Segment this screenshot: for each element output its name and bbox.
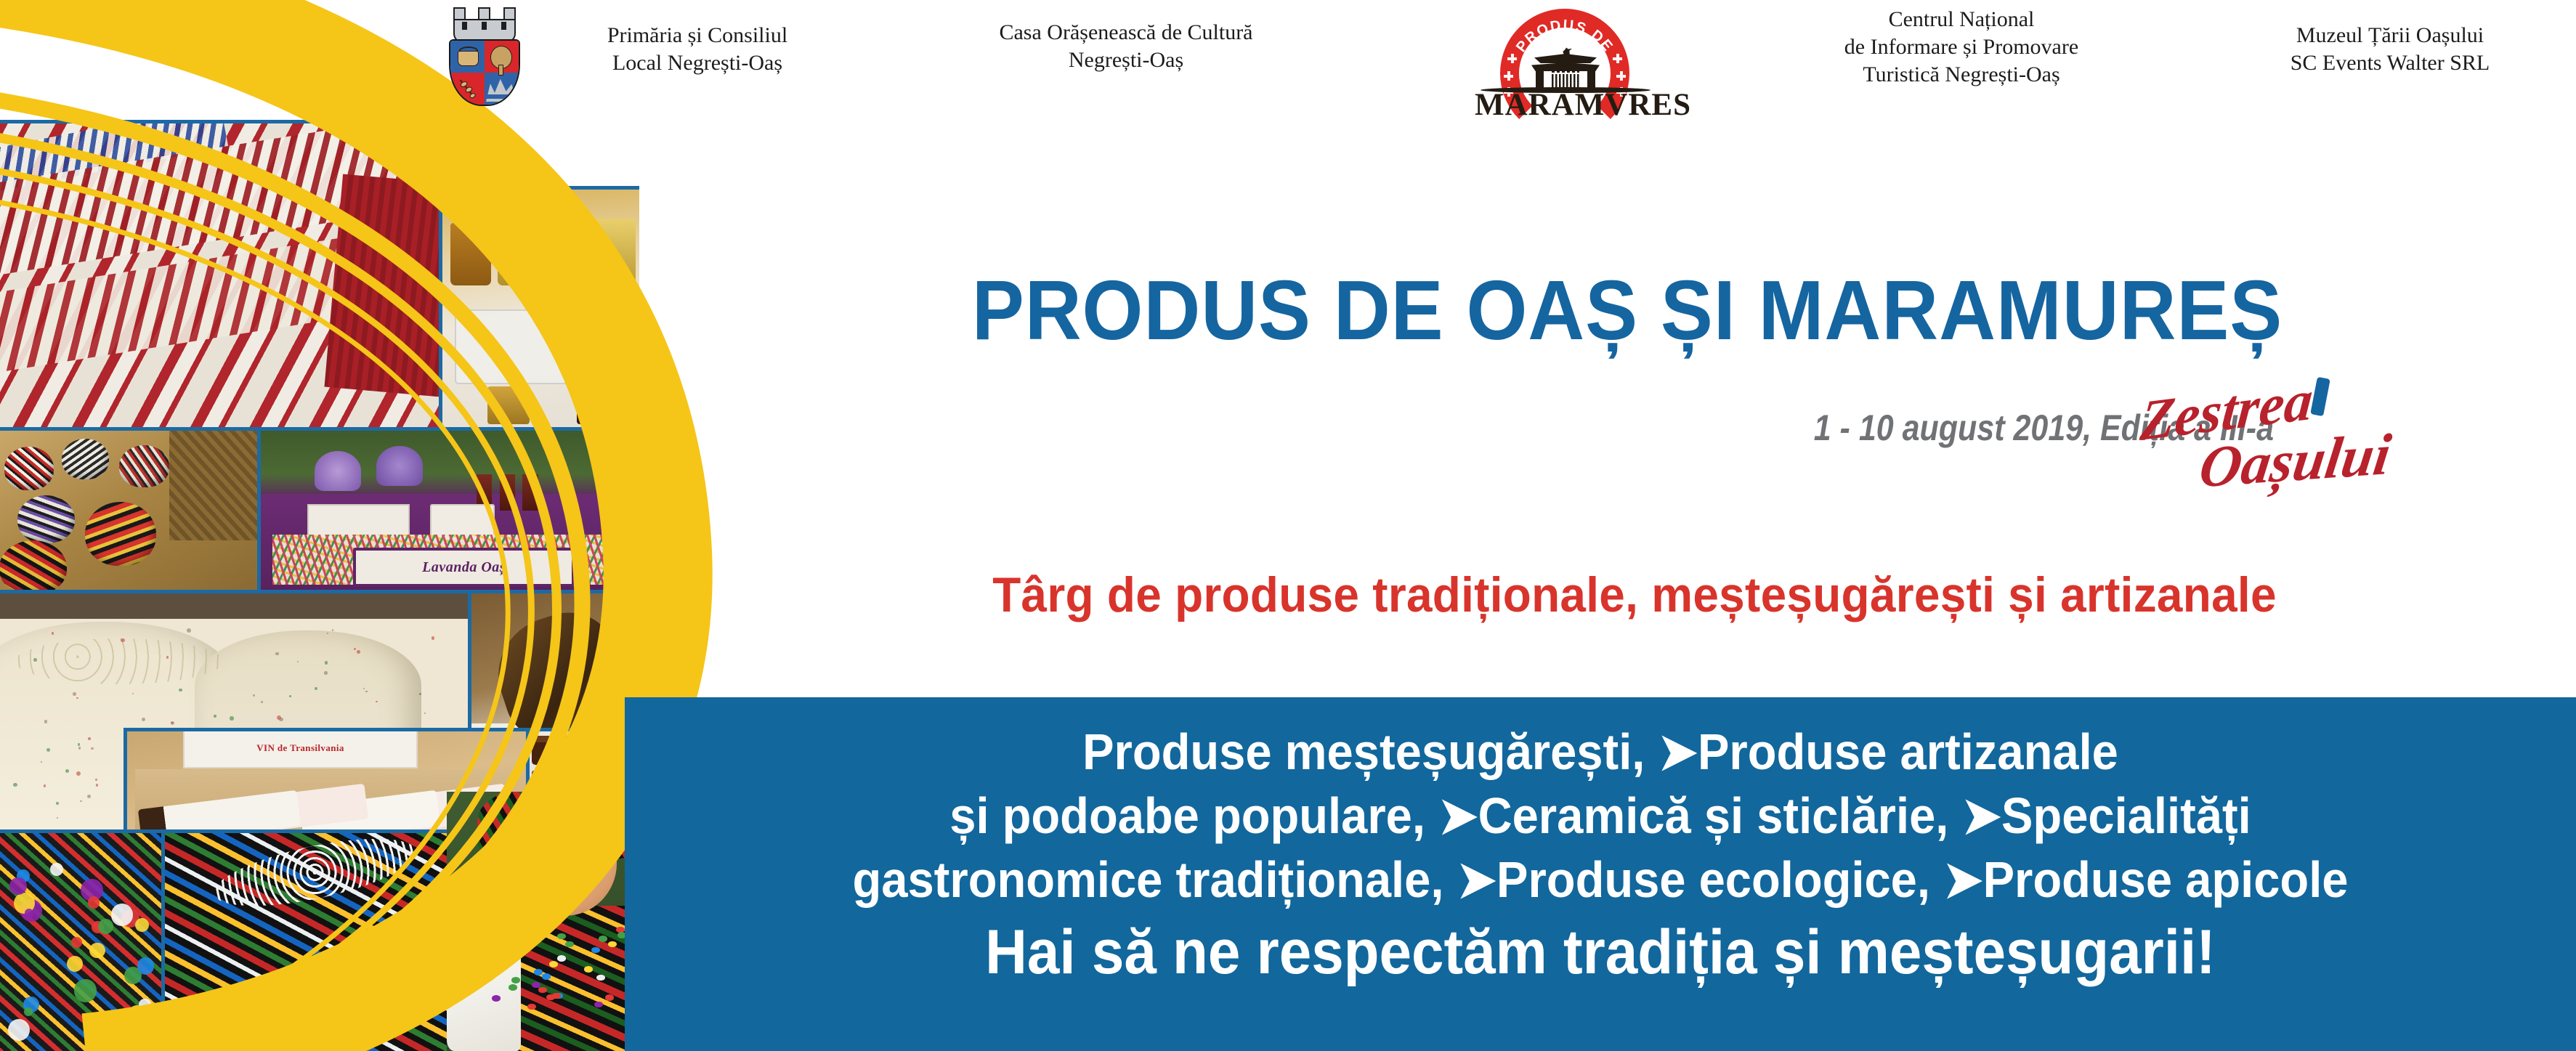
costume-bead xyxy=(503,925,511,932)
beadwork-flower xyxy=(139,999,151,1011)
cheese-speckle xyxy=(179,689,182,691)
cheese-speckle xyxy=(33,658,37,662)
cheese-speckle xyxy=(76,697,78,699)
beadwork-flower xyxy=(50,863,63,876)
apostrophe-mark xyxy=(2310,377,2330,416)
costume-bead xyxy=(542,973,551,980)
cheese-speckle xyxy=(354,648,356,650)
cheese-speckle xyxy=(132,693,134,694)
photo-folk-doll xyxy=(447,792,639,1051)
costume-bead xyxy=(605,994,614,1001)
cheese-speckle xyxy=(73,692,76,696)
crown-tower-icon xyxy=(453,7,516,44)
event-subtitle: Târg de produse tradiționale, meșteșugăr… xyxy=(795,567,2474,623)
photo-beadwork xyxy=(0,829,167,1051)
photo-honey-products xyxy=(439,186,639,433)
beadwork-flower xyxy=(111,904,133,925)
costume-bead xyxy=(511,977,520,983)
cheese-speckle xyxy=(44,720,48,723)
cheese-speckle xyxy=(52,632,54,634)
festival-poster: Lavanda Oaș VIN de Transilvania xyxy=(0,0,2576,1051)
jam-jar xyxy=(600,736,619,765)
beadwork-flower xyxy=(135,918,149,932)
photo-collage: Lavanda Oaș VIN de Transilvania xyxy=(0,0,639,1051)
banner-line-2: și podoabe populare, ➤Ceramică și sticlă… xyxy=(693,786,2508,845)
cheese-speckle xyxy=(365,691,368,693)
zestrea-oasului-script-logo: Zestrea Oașului xyxy=(2121,384,2572,522)
vin-transilvania-sign: VIN de Transilvania xyxy=(183,728,418,768)
cheese-speckle xyxy=(13,783,17,787)
maramures-wordmark: MARAMVRES xyxy=(1475,87,1656,123)
costume-bead xyxy=(532,982,540,989)
cheese-speckle xyxy=(275,652,278,655)
produs-de-maramures-logo: PRODUS DE MARAMVRES xyxy=(1475,6,1656,107)
costume-bead xyxy=(557,933,566,940)
organizer-centrul-national-line2: de Informare și Promovare xyxy=(1765,33,2158,61)
cheese-speckle xyxy=(315,687,317,690)
organizer-casa-cultura-line2: Negrești-Oaș xyxy=(952,46,1300,74)
vin-transilvania-sign-text: VIN de Transilvania xyxy=(256,742,344,754)
branch-icon xyxy=(455,78,481,100)
organizer-muzeul-line1: Muzeul Țării Oașului xyxy=(2208,22,2572,49)
event-date-line: 1 - 10 august 2019, Ediția a III-a xyxy=(1056,407,2274,449)
beadwork-flower xyxy=(9,877,27,895)
cheese-speckle xyxy=(96,784,99,787)
costume-bead xyxy=(549,961,558,967)
cheese-speckle xyxy=(376,701,377,702)
cheese-speckle xyxy=(432,636,434,639)
beadwork-flower xyxy=(92,1023,100,1031)
organizer-casa-cultura: Casa Orășenească de Cultură Negrești-Oaș xyxy=(952,19,1300,74)
beadwork-flower xyxy=(98,919,113,934)
cheese-speckle xyxy=(88,737,91,740)
costume-bead xyxy=(497,959,506,965)
jam-jar xyxy=(532,736,551,765)
beadwork-flower xyxy=(88,896,100,908)
cheese-speckle xyxy=(297,661,299,662)
costume-bead xyxy=(534,969,543,975)
costume-bead xyxy=(507,956,516,962)
costume-bead xyxy=(557,955,566,962)
lavanda-oas-sign: Lavanda Oaș xyxy=(353,548,575,587)
costume-bead xyxy=(584,966,593,973)
beadwork-flower xyxy=(89,943,105,958)
organizer-casa-cultura-line1: Casa Orășenească de Cultură xyxy=(952,19,1300,46)
beadwork-flower xyxy=(71,937,81,947)
photo-lavender-stand: Lavanda Oaș xyxy=(257,427,639,601)
cheese-speckle xyxy=(230,716,234,721)
costume-bead xyxy=(538,987,547,994)
cheese-speckle xyxy=(214,715,216,717)
banner-line-3: gastronomice tradiționale, ➤Produse ecol… xyxy=(693,850,2508,909)
cheese-speckle xyxy=(46,748,50,752)
photo-painted-eggs xyxy=(0,427,262,596)
negresti-oas-coat-of-arms-icon xyxy=(445,6,524,107)
product-categories-banner: Produse meșteșugărești, ➤Produse artizan… xyxy=(625,697,2576,1051)
costume-bead xyxy=(509,984,517,991)
organizer-centrul-national-line1: Centrul Național xyxy=(1765,6,2158,33)
organizer-primaria: Primăria și Consiliul Local Negrești-Oaș xyxy=(559,22,835,77)
organizer-centrul-national: Centrul Național de Informare și Promova… xyxy=(1765,6,2158,88)
cheese-speckle xyxy=(78,747,81,749)
organizer-muzeul: Muzeul Țării Oașului SC Events Walter SR… xyxy=(2208,22,2572,77)
organizer-centrul-national-line3: Turistică Negrești-Oaș xyxy=(1765,61,2158,89)
beadwork-flower xyxy=(8,1019,30,1041)
photo-woven-textiles xyxy=(0,120,443,432)
cheese-speckle xyxy=(424,713,426,714)
cheese-speckle xyxy=(171,722,172,723)
beadwork-flower xyxy=(25,909,33,917)
rooster-icon xyxy=(1562,46,1572,55)
page-title: PRODUS DE OAȘ ȘI MARAMUREȘ xyxy=(803,261,2451,359)
cheese-speckle xyxy=(87,795,91,798)
wooden-gate-icon xyxy=(1534,46,1597,90)
jam-jar xyxy=(578,736,596,765)
cheese-speckle xyxy=(324,671,327,674)
cheese-speckle xyxy=(95,779,97,781)
costume-bead xyxy=(497,917,506,924)
costume-bead xyxy=(599,936,607,942)
cheese-speckle xyxy=(187,628,191,633)
jam-jar xyxy=(554,736,573,765)
costume-bead xyxy=(492,995,501,1002)
lavanda-oas-sign-text: Lavanda Oaș xyxy=(422,559,506,576)
cheese-speckle xyxy=(56,802,59,805)
beadwork-flower xyxy=(137,957,155,975)
organizer-muzeul-line2: SC Events Walter SRL xyxy=(2208,49,2572,77)
costume-bead xyxy=(493,947,502,954)
organizer-primaria-line1: Primăria și Consiliul xyxy=(559,22,835,49)
banner-call-to-action: Hai să ne respectăm tradiția și meșteșug… xyxy=(693,917,2508,989)
costume-bead xyxy=(538,927,546,933)
organizer-primaria-line2: Local Negrești-Oaș xyxy=(559,49,835,77)
banner-line-1: Produse meșteșugărești, ➤Produse artizan… xyxy=(693,722,2508,782)
cheese-speckle xyxy=(289,695,291,697)
